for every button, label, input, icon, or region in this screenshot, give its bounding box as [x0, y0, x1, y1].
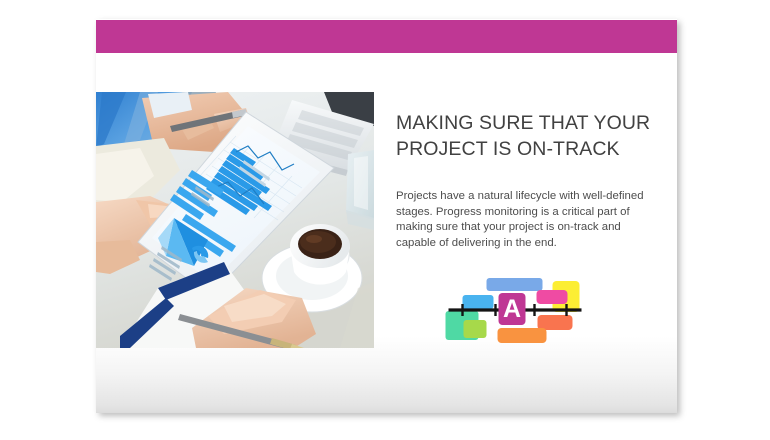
bar-orange: [498, 328, 547, 343]
slide-text-column: MAKING SURE THAT YOUR PROJECT IS ON-TRAC…: [396, 110, 658, 251]
slide-body-text: Projects have a natural lifecycle with w…: [396, 162, 658, 251]
slide-header-bar: [96, 20, 677, 53]
slide-stage: MAKING SURE THAT YOUR PROJECT IS ON-TRAC…: [0, 0, 770, 440]
bar-orange-salmon: [538, 315, 573, 330]
bar-green-lime: [464, 320, 487, 338]
presentation-slide: MAKING SURE THAT YOUR PROJECT IS ON-TRAC…: [96, 19, 677, 413]
badge-a-letter: A: [503, 295, 521, 323]
gantt-timeline-graphic: A: [435, 264, 595, 350]
photo-illustration: [96, 92, 374, 348]
bar-blue-light: [487, 278, 543, 291]
meeting-tablet-photo: [96, 92, 374, 348]
gantt-timeline-icon: A: [435, 264, 595, 350]
bar-blue-sky: [463, 295, 494, 309]
slide-title: MAKING SURE THAT YOUR PROJECT IS ON-TRAC…: [396, 110, 658, 162]
bar-pink: [537, 290, 568, 304]
